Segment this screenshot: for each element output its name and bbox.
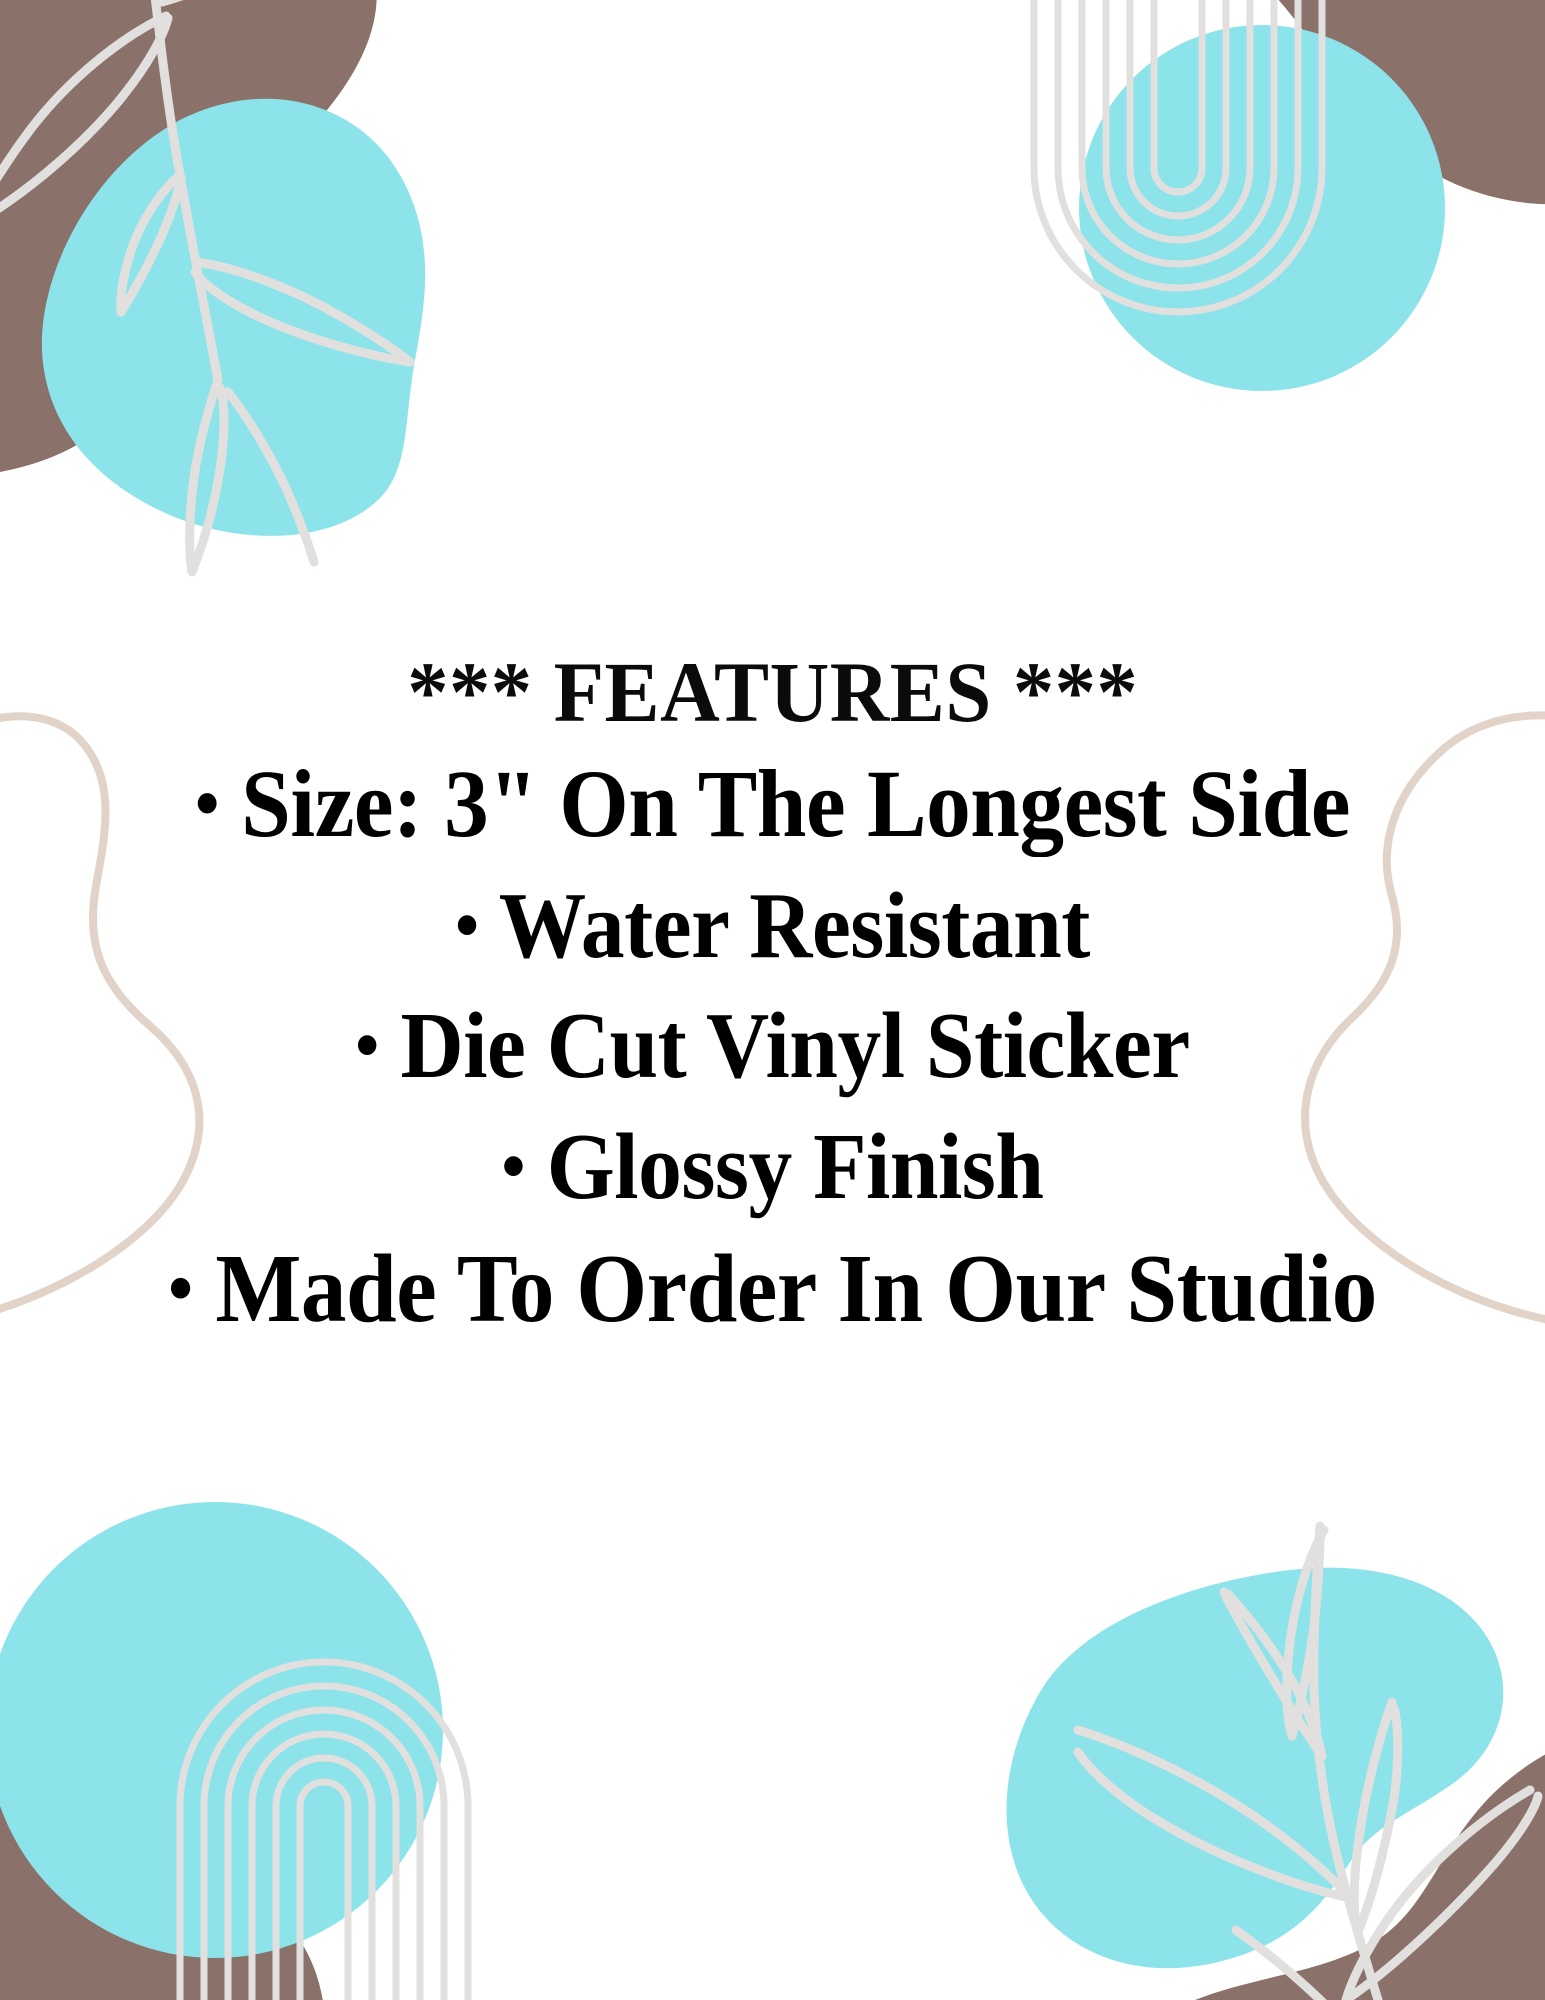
list-item: • Size: 3" On The Longest Side <box>54 743 1491 866</box>
bullet-icon: • <box>168 1245 193 1330</box>
list-item: • Made To Order In Our Studio <box>54 1227 1491 1352</box>
list-item: • Glossy Finish <box>54 1107 1491 1227</box>
bullet-icon: • <box>355 1005 379 1086</box>
bullet-icon: • <box>195 763 219 846</box>
list-item: • Die Cut Vinyl Sticker <box>54 986 1491 1106</box>
page-title: *** FEATURES *** <box>407 648 1138 737</box>
list-item-label: Die Cut Vinyl Sticker <box>401 994 1190 1098</box>
features-content: *** FEATURES *** • Size: 3" On The Longe… <box>0 0 1545 2000</box>
list-item-label: Made To Order In Our Studio <box>215 1235 1377 1343</box>
list-item-label: Size: 3" On The Longest Side <box>241 750 1350 857</box>
features-card-page: *** FEATURES *** • Size: 3" On The Longe… <box>0 0 1545 2000</box>
features-list: • Size: 3" On The Longest Side • Water R… <box>0 743 1545 1352</box>
bullet-icon: • <box>501 1125 525 1206</box>
list-item-label: Glossy Finish <box>547 1115 1044 1219</box>
bullet-icon: • <box>455 885 479 966</box>
list-item: • Water Resistant <box>54 866 1491 986</box>
list-item-label: Water Resistant <box>499 874 1090 978</box>
